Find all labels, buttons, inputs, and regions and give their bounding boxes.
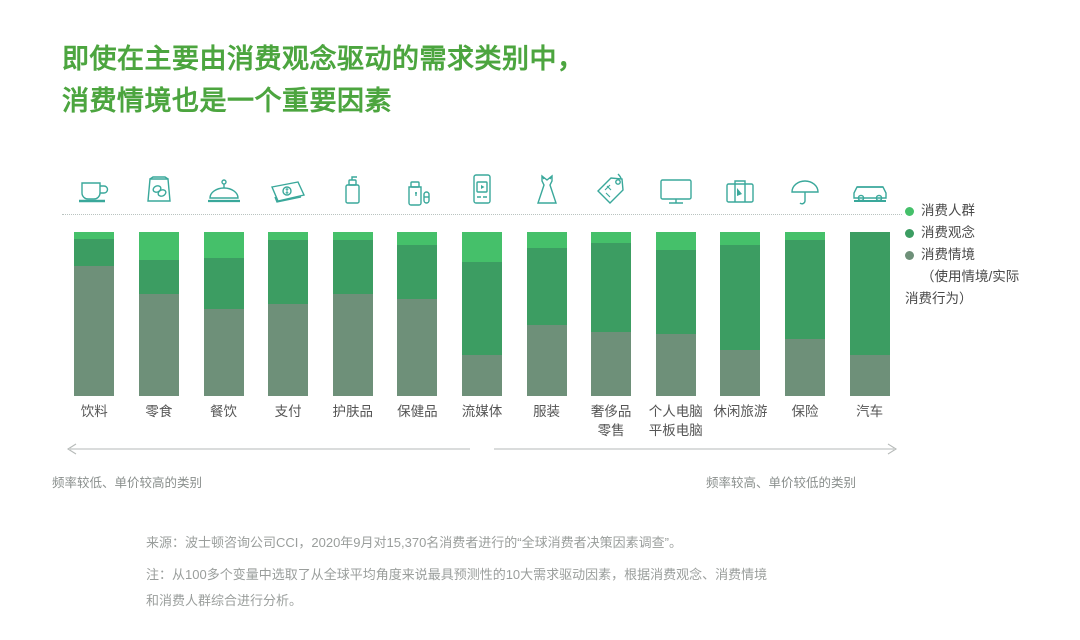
category-label: 流媒体 bbox=[450, 402, 515, 440]
lotion-bottle-icon bbox=[320, 158, 385, 206]
bar-column[interactable] bbox=[579, 232, 644, 396]
category-label: 支付 bbox=[256, 402, 321, 440]
footnotes: 来源：波士顿咨询公司CCI，2020年9月对15,370名消费者进行的“全球消费… bbox=[146, 530, 976, 614]
label-line1: 支付 bbox=[275, 404, 302, 419]
segment-consumer-concept bbox=[204, 258, 244, 309]
snack-bag-icon bbox=[127, 158, 192, 206]
bar-column[interactable] bbox=[62, 232, 127, 396]
bar-column[interactable] bbox=[450, 232, 515, 396]
segment-consumer-concept bbox=[591, 243, 631, 332]
label-line1: 服装 bbox=[533, 404, 560, 419]
bar-column[interactable] bbox=[708, 232, 773, 396]
label-line1: 零食 bbox=[145, 404, 172, 419]
bar-column[interactable] bbox=[643, 232, 708, 396]
bar-5 bbox=[397, 232, 437, 396]
segment-consumer-concept bbox=[656, 250, 696, 334]
bar-column[interactable] bbox=[256, 232, 321, 396]
label-line1: 奢侈品 bbox=[591, 404, 632, 419]
segment-consumer-group bbox=[397, 232, 437, 245]
segment-consumer-context bbox=[139, 294, 179, 396]
segment-consumer-group bbox=[462, 232, 502, 262]
bar-column[interactable] bbox=[320, 232, 385, 396]
chart-legend: 消费人群 消费观念 消费情境 （使用情境/实际 消费行为） bbox=[905, 200, 1077, 310]
segment-consumer-group bbox=[656, 232, 696, 250]
segment-consumer-concept bbox=[527, 248, 567, 325]
label-line1: 护肤品 bbox=[332, 404, 373, 419]
segment-consumer-group bbox=[720, 232, 760, 245]
category-label: 保健品 bbox=[385, 402, 450, 440]
segment-consumer-context bbox=[333, 294, 373, 396]
legend-item-consumer-concept[interactable]: 消费观念 bbox=[905, 222, 1077, 244]
source-note: 来源：波士顿咨询公司CCI，2020年9月对15,370名消费者进行的“全球消费… bbox=[146, 530, 976, 556]
methodology-note-line-2: 和消费人群综合进行分析。 bbox=[146, 588, 976, 614]
bar-column[interactable] bbox=[514, 232, 579, 396]
bar-8 bbox=[591, 232, 631, 396]
bar-7 bbox=[527, 232, 567, 396]
segment-consumer-context bbox=[268, 304, 308, 396]
bar-column[interactable] bbox=[127, 232, 192, 396]
segment-consumer-context bbox=[462, 355, 502, 396]
category-icon-row bbox=[62, 158, 902, 206]
segment-consumer-context bbox=[397, 299, 437, 396]
phone-media-icon bbox=[450, 158, 515, 206]
bar-9 bbox=[656, 232, 696, 396]
legend-item-consumer-group[interactable]: 消费人群 bbox=[905, 200, 1077, 222]
desktop-monitor-icon bbox=[643, 158, 708, 206]
bar-12 bbox=[850, 232, 890, 396]
segment-consumer-context bbox=[527, 325, 567, 396]
segment-consumer-concept bbox=[720, 245, 760, 350]
bar-10 bbox=[720, 232, 760, 396]
legend-label: 消费观念 bbox=[921, 222, 975, 244]
segment-consumer-concept bbox=[785, 240, 825, 338]
category-label: 个人电脑平板电脑 bbox=[643, 402, 708, 440]
label-line1: 个人电脑 bbox=[649, 404, 703, 419]
legend-label: 消费人群 bbox=[921, 200, 975, 222]
label-line1: 汽车 bbox=[856, 404, 883, 419]
legend-label: 消费情境 bbox=[921, 244, 975, 266]
label-line1: 饮料 bbox=[81, 404, 108, 419]
category-label: 休闲旅游 bbox=[708, 402, 773, 440]
bar-6 bbox=[462, 232, 502, 396]
coffee-cup-icon bbox=[62, 158, 127, 206]
bar-column[interactable] bbox=[385, 232, 450, 396]
segment-consumer-concept bbox=[139, 260, 179, 294]
money-banknote-icon bbox=[256, 158, 321, 206]
price-tag-icon bbox=[579, 158, 644, 206]
dress-icon bbox=[514, 158, 579, 206]
bar-column[interactable] bbox=[191, 232, 256, 396]
segment-consumer-concept bbox=[268, 240, 308, 304]
axis-note-left: 频率较低、单价较高的类别 bbox=[52, 472, 202, 491]
label-line2: 平板电脑 bbox=[643, 421, 708, 440]
legend-dot-icon bbox=[905, 229, 914, 238]
bar-column[interactable] bbox=[773, 232, 838, 396]
bar-3 bbox=[268, 232, 308, 396]
legend-dot-icon bbox=[905, 207, 914, 216]
segment-consumer-context bbox=[850, 355, 890, 396]
legend-dot-icon bbox=[905, 251, 914, 260]
umbrella-icon bbox=[773, 158, 838, 206]
dotted-top-axis bbox=[62, 214, 902, 216]
segment-consumer-concept bbox=[74, 239, 114, 267]
segment-consumer-group bbox=[527, 232, 567, 248]
label-line1: 保险 bbox=[792, 404, 819, 419]
suitcase-icon bbox=[708, 158, 773, 206]
segment-consumer-context bbox=[785, 339, 825, 396]
label-line1: 休闲旅游 bbox=[713, 404, 767, 419]
bar-series-container bbox=[62, 232, 902, 396]
segment-consumer-concept bbox=[333, 240, 373, 294]
segment-consumer-group bbox=[591, 232, 631, 243]
segment-consumer-context bbox=[74, 266, 114, 396]
bar-0 bbox=[74, 232, 114, 396]
car-icon bbox=[837, 158, 902, 206]
bar-11 bbox=[785, 232, 825, 396]
bar-4 bbox=[333, 232, 373, 396]
segment-consumer-context bbox=[204, 309, 244, 396]
label-line1: 保健品 bbox=[397, 404, 438, 419]
axis-range-arrows bbox=[62, 440, 902, 458]
segment-consumer-group bbox=[139, 232, 179, 260]
food-cloche-icon bbox=[191, 158, 256, 206]
segment-consumer-context bbox=[656, 334, 696, 396]
segment-consumer-concept bbox=[397, 245, 437, 299]
legend-item-consumer-context[interactable]: 消费情境 bbox=[905, 244, 1077, 266]
legend-sub-line-2: 消费行为） bbox=[905, 288, 1077, 310]
segment-consumer-group bbox=[785, 232, 825, 240]
category-label: 护肤品 bbox=[320, 402, 385, 440]
axis-note-right: 频率较高、单价较低的类别 bbox=[706, 472, 856, 491]
label-line1: 餐饮 bbox=[210, 404, 237, 419]
legend-sub-line-1: （使用情境/实际 bbox=[921, 266, 1077, 288]
label-line2: 零售 bbox=[579, 421, 644, 440]
category-label: 餐饮 bbox=[191, 402, 256, 440]
segment-consumer-group bbox=[204, 232, 244, 258]
segment-consumer-group bbox=[268, 232, 308, 240]
segment-consumer-context bbox=[720, 350, 760, 396]
category-labels: 饮料 零食 餐饮 支付 护肤品 保健品 流媒体 服装 奢侈品零售 个人电脑平板电… bbox=[62, 402, 902, 440]
category-label: 服装 bbox=[514, 402, 579, 440]
medicine-bottle-icon bbox=[385, 158, 450, 206]
category-label: 饮料 bbox=[62, 402, 127, 440]
category-label: 保险 bbox=[773, 402, 838, 440]
category-label: 汽车 bbox=[837, 402, 902, 440]
methodology-note-line-1: 注：从100多个变量中选取了从全球平均角度来说最具预测性的10大需求驱动因素，根… bbox=[146, 562, 976, 588]
methodology-note: 注：从100多个变量中选取了从全球平均角度来说最具预测性的10大需求驱动因素，根… bbox=[146, 562, 976, 614]
bar-1 bbox=[139, 232, 179, 396]
category-label: 零食 bbox=[127, 402, 192, 440]
segment-consumer-context bbox=[591, 332, 631, 396]
bar-column[interactable] bbox=[837, 232, 902, 396]
segment-consumer-group bbox=[333, 232, 373, 240]
segment-consumer-concept bbox=[462, 262, 502, 355]
category-label: 奢侈品零售 bbox=[579, 402, 644, 440]
segment-consumer-concept bbox=[850, 232, 890, 355]
label-line1: 流媒体 bbox=[462, 404, 503, 419]
bar-2 bbox=[204, 232, 244, 396]
